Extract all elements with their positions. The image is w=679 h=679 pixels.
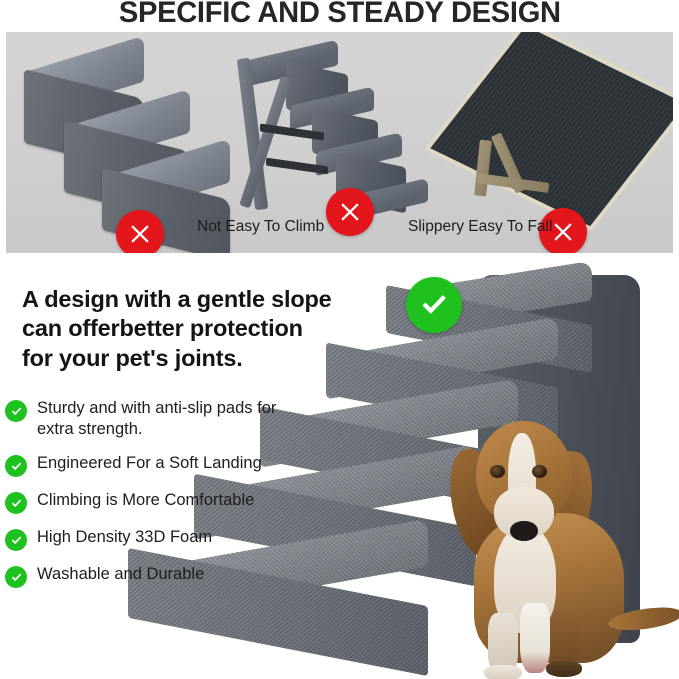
feature-label: Engineered For a Soft Landing	[37, 453, 262, 474]
x-mark-badge	[326, 188, 374, 236]
headline-line-1: A design with a gentle slope	[22, 285, 352, 314]
x-mark-badge	[116, 210, 164, 253]
headline-line-3: for your pet's joints.	[22, 344, 352, 373]
dog-nose	[510, 521, 538, 541]
check-mark-badge	[5, 400, 27, 422]
page-title: SPECIFIC AND STEADY DESIGN	[119, 0, 561, 30]
feature-item: Climbing is More Comfortable	[5, 490, 315, 514]
feature-item: Engineered For a Soft Landing	[5, 453, 315, 477]
comparison-caption-1: Not Easy To Climb	[197, 218, 324, 236]
check-mark-badge	[5, 455, 27, 477]
check-mark-badge	[5, 492, 27, 514]
check-mark-icon	[10, 571, 23, 584]
feature-item: Washable and Durable	[5, 564, 315, 588]
x-mark-icon	[337, 199, 363, 225]
dog-illustration	[446, 403, 679, 679]
check-mark-badge	[406, 277, 462, 333]
feature-item: Sturdy and with anti-slip pads for extra…	[5, 398, 315, 440]
check-mark-badge	[5, 529, 27, 551]
check-mark-icon	[10, 497, 23, 510]
feature-label: Washable and Durable	[37, 564, 204, 585]
product-infographic: SPECIFIC AND STEADY DESIGN	[0, 0, 679, 679]
feature-label: Climbing is More Comfortable	[37, 490, 254, 511]
feature-list: Sturdy and with anti-slip pads for extra…	[5, 398, 315, 601]
ramp-carpet-board	[424, 32, 673, 231]
page-title-bar: SPECIFIC AND STEADY DESIGN	[0, 0, 679, 32]
check-mark-badge	[5, 566, 27, 588]
headline-line-2: can offerbetter protection	[22, 314, 352, 343]
x-mark-icon	[127, 221, 153, 247]
hero-panel: A design with a gentle slope can offerbe…	[0, 253, 679, 679]
dog-paw-right	[546, 661, 582, 677]
feature-item: High Density 33D Foam	[5, 527, 315, 551]
comparison-panel: Not Easy To Climb Slippery Easy To Fall	[6, 32, 673, 253]
x-mark-icon	[550, 219, 576, 245]
check-mark-icon	[10, 460, 23, 473]
dog-eye-left	[490, 465, 505, 478]
feature-label: Sturdy and with anti-slip pads for extra…	[37, 398, 315, 440]
dog-paw-left	[484, 665, 522, 679]
feature-label: High Density 33D Foam	[37, 527, 212, 548]
hero-headline: A design with a gentle slope can offerbe…	[22, 285, 352, 373]
comparison-caption-2: Slippery Easy To Fall	[408, 218, 552, 236]
dog-eye-right	[532, 465, 547, 478]
check-mark-icon	[10, 534, 23, 547]
check-mark-icon	[418, 289, 450, 321]
dog-bandaged-leg	[520, 603, 550, 673]
check-mark-icon	[10, 405, 23, 418]
